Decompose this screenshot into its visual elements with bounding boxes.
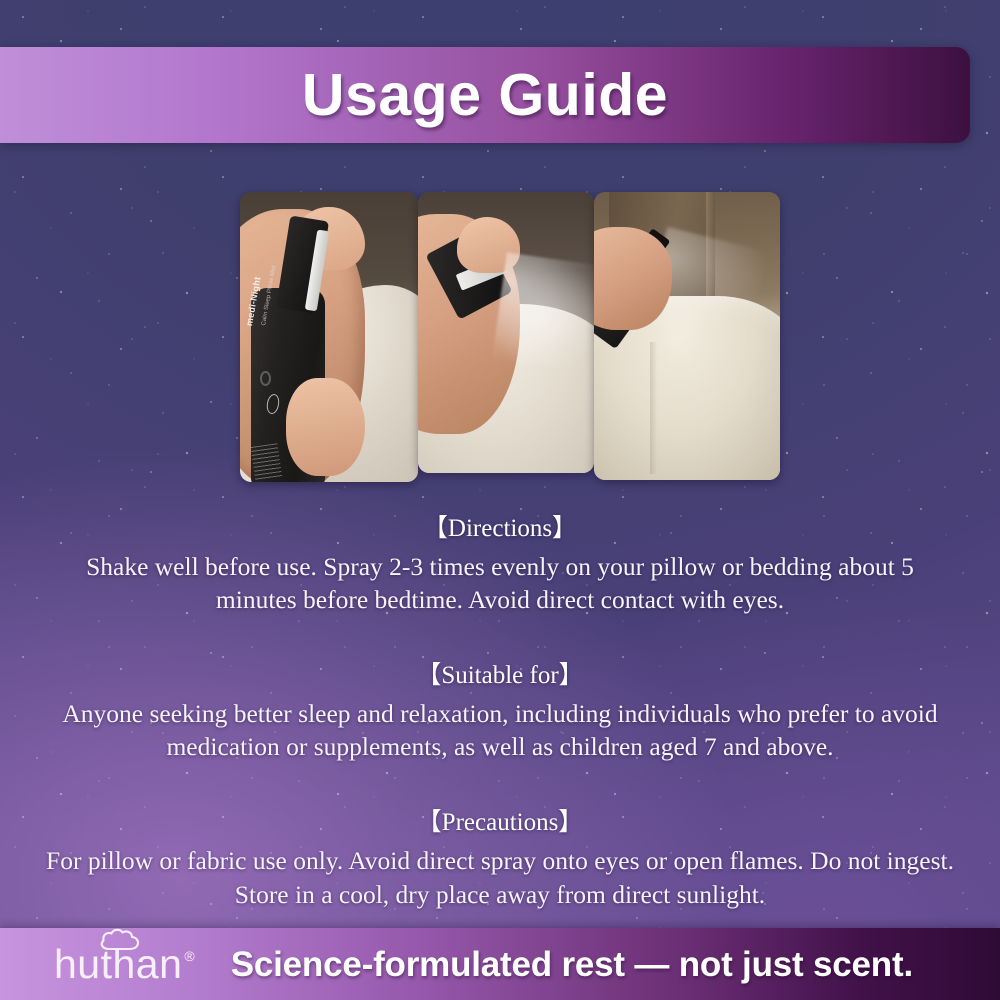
section-body: Shake well before use. Spray 2-3 times e…	[40, 550, 960, 617]
photo-strip: medi-Night Calm Sleep Pillow Mist	[240, 192, 780, 492]
section-suitable-for: 【Suitable for】 Anyone seeking better sle…	[40, 659, 960, 764]
section-body: Anyone seeking better sleep and relaxati…	[40, 697, 960, 764]
bottle-highlight	[260, 371, 271, 387]
usage-content: 【Directions】 Shake well before use. Spra…	[40, 512, 960, 911]
mist-spray-shape	[492, 253, 594, 373]
section-body: For pillow or fabric use only. Avoid dir…	[40, 844, 960, 911]
section-heading: 【Directions】	[40, 512, 960, 546]
usage-guide-poster: Usage Guide medi-Night Calm Sleep Pillow…	[0, 0, 1000, 1000]
header-banner: Usage Guide	[0, 47, 970, 143]
registered-trademark-icon: ®	[184, 949, 194, 963]
cloud-icon	[98, 927, 142, 951]
section-heading: 【Precautions】	[40, 806, 960, 840]
bottle-badge	[265, 393, 280, 414]
fingers-shape	[286, 378, 364, 477]
section-heading: 【Suitable for】	[40, 659, 960, 693]
page-title: Usage Guide	[302, 66, 668, 125]
brand-logo: huthan ®	[54, 944, 195, 985]
bottle-fineprint	[251, 444, 283, 482]
section-directions: 【Directions】 Shake well before use. Spra…	[40, 512, 960, 617]
pillow-fold-shape	[650, 342, 657, 474]
photo-spraying-pillow	[594, 192, 780, 480]
photo-holding-bottle: medi-Night Calm Sleep Pillow Mist	[240, 192, 418, 482]
section-precautions: 【Precautions】 For pillow or fabric use o…	[40, 806, 960, 911]
photo-spraying-mist	[418, 192, 594, 473]
footer-bar: huthan ® Science-formulated rest — not j…	[0, 928, 1000, 1000]
footer-tagline: Science-formulated rest — not just scent…	[231, 947, 913, 982]
